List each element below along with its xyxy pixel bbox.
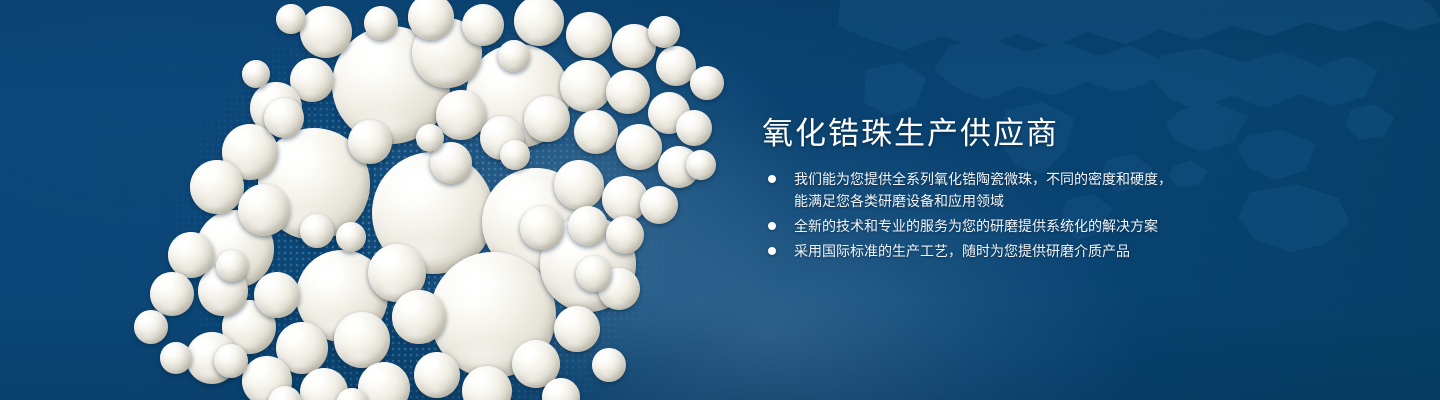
list-item: 我们能为您提供全系列氧化锆陶瓷微珠，不同的密度和硬度， 能满足您各类研磨设备和应…: [764, 168, 1304, 212]
list-item: 采用国际标准的生产工艺，随时为您提供研磨介质产品: [764, 240, 1304, 262]
bullet-dot-icon: [768, 247, 776, 255]
hero-banner: 氧化锆珠生产供应商 我们能为您提供全系列氧化锆陶瓷微珠，不同的密度和硬度， 能满…: [0, 0, 1440, 400]
banner-copy: 氧化锆珠生产供应商 我们能为您提供全系列氧化锆陶瓷微珠，不同的密度和硬度， 能满…: [760, 0, 1320, 400]
bullet-dot-icon: [768, 222, 776, 230]
bullet-dot-icon: [768, 175, 776, 183]
feature-list: 我们能为您提供全系列氧化锆陶瓷微珠，不同的密度和硬度， 能满足您各类研磨设备和应…: [764, 168, 1304, 265]
list-item-line2: 能满足您各类研磨设备和应用领域: [794, 190, 1304, 212]
list-item-line1: 全新的技术和专业的服务为您的研磨提供系统化的解决方案: [794, 215, 1304, 237]
list-item-line1: 我们能为您提供全系列氧化锆陶瓷微珠，不同的密度和硬度，: [794, 168, 1304, 190]
list-item-line1: 采用国际标准的生产工艺，随时为您提供研磨介质产品: [794, 240, 1304, 262]
page-title: 氧化锆珠生产供应商: [762, 108, 1059, 153]
list-item: 全新的技术和专业的服务为您的研磨提供系统化的解决方案: [764, 215, 1304, 237]
